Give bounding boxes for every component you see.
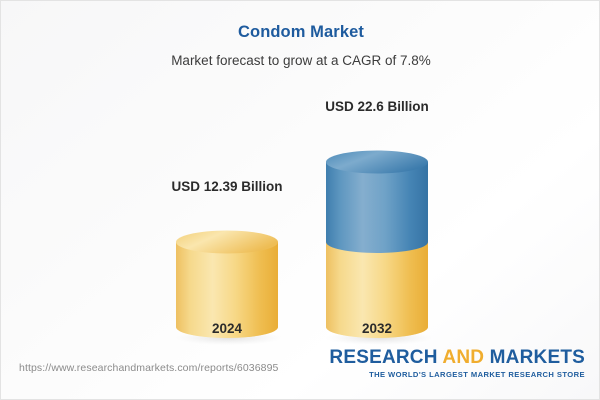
plot-area: USD 12.39 Billion [1, 1, 600, 346]
bar-group-2032: USD 22.6 Billion [323, 1, 431, 346]
chart-figure: Condom Market Market forecast to grow at… [0, 0, 600, 400]
cylinder-2032[interactable] [323, 148, 431, 346]
cylinder-top-2032 [326, 151, 428, 174]
category-label-2032: 2032 [362, 321, 392, 336]
brand-word-research: RESEARCH [329, 347, 442, 368]
cylinder-top-2024 [176, 231, 278, 254]
source-url[interactable]: https://www.researchandmarkets.com/repor… [19, 362, 278, 374]
brand-logo[interactable]: RESEARCH AND MARKETS THE WORLD'S LARGEST… [329, 348, 585, 379]
brand-wordmark: RESEARCH AND MARKETS [329, 348, 585, 368]
value-label-2024: USD 12.39 Billion [171, 179, 282, 194]
brand-tagline: THE WORLD'S LARGEST MARKET RESEARCH STOR… [329, 370, 585, 379]
value-label-2032: USD 22.6 Billion [325, 99, 429, 114]
brand-word-and: AND [442, 347, 484, 368]
category-label-2024: 2024 [212, 321, 242, 336]
brand-word-markets: MARKETS [484, 347, 585, 368]
footer: https://www.researchandmarkets.com/repor… [1, 344, 600, 399]
bar-group-2024: USD 12.39 Billion [173, 1, 281, 346]
segment-growth-2032 [326, 162, 428, 253]
